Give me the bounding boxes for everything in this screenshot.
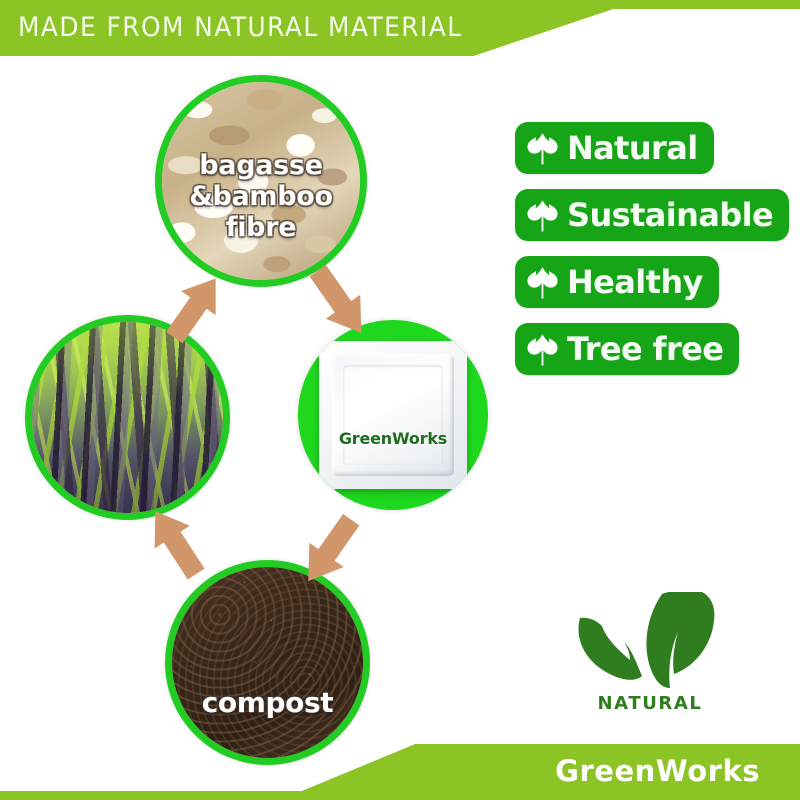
badge-label: Tree free xyxy=(567,333,723,365)
natural-logo: NATURAL xyxy=(562,592,752,732)
cycle-node-plate[interactable]: GreenWorks xyxy=(298,320,488,510)
natural-logo-word: NATURAL xyxy=(562,693,738,714)
two-leaves-icon xyxy=(562,592,738,701)
leaf-icon xyxy=(527,131,558,165)
badge-healthy[interactable]: Healthy xyxy=(515,256,719,308)
badge-label: Sustainable xyxy=(567,199,773,231)
sugarcane-shading-overlay xyxy=(32,322,223,513)
badge-sustainable[interactable]: Sustainable xyxy=(515,189,789,241)
poster-root: MADE FROM NATURAL MATERIAL bagasse &bamb… xyxy=(0,0,800,800)
feature-badge-list: Natural Sustainable Healthy xyxy=(515,122,800,390)
plate-brand-label: GreenWorks xyxy=(319,429,467,448)
cycle-node-bagasse[interactable]: bagasse &bamboo fibre xyxy=(155,75,367,287)
leaf-icon xyxy=(527,265,558,299)
bagasse-and-bamboo-fibre-photo xyxy=(162,82,360,280)
badge-label: Natural xyxy=(567,132,698,164)
arrow-cane-to-bagasse-icon xyxy=(160,268,230,348)
footer-brand: GreenWorks xyxy=(555,754,760,788)
badge-label: Healthy xyxy=(567,266,703,298)
badge-tree-free[interactable]: Tree free xyxy=(515,323,739,375)
arrow-compost-to-cane-icon xyxy=(138,500,214,586)
arrow-plate-to-compost-icon xyxy=(292,508,368,592)
dark-compost-soil-photo xyxy=(172,567,363,758)
page-title: MADE FROM NATURAL MATERIAL xyxy=(18,9,463,47)
plate-well xyxy=(343,365,443,465)
white-square-bagasse-plate: GreenWorks xyxy=(319,341,467,489)
leaf-icon xyxy=(527,198,558,232)
arrow-bagasse-to-plate-icon xyxy=(300,258,378,344)
plate-rim xyxy=(332,354,454,476)
badge-natural[interactable]: Natural xyxy=(515,122,714,174)
leaf-icon xyxy=(527,332,558,366)
